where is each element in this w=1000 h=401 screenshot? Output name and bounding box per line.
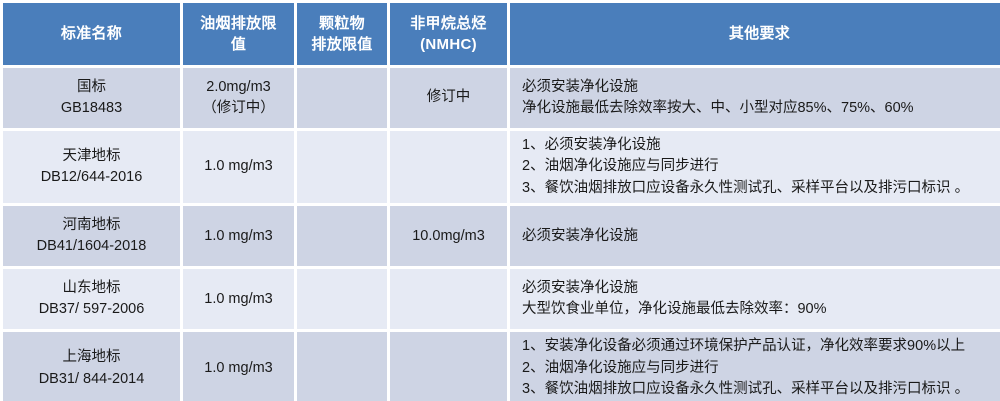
column-header-oil-fume-limit-label-line2: 值 [187,34,290,55]
other-requirement-line2: 大型饮食业单位，净化设施最低去除效率：90% [522,299,1000,320]
page-root: 标准名称 油烟排放限 值 颗粒物 排放限值 非甲烷总烃 (NMHC) 其他要求 [0,0,1000,401]
standard-name-line2: DB41/1604-2018 [9,236,174,257]
standard-name-line1: 山东地标 [9,278,174,299]
standard-name-line2: DB37/ 597-2006 [9,299,174,320]
cell-standard-name: 国标 GB18483 [3,68,180,128]
cell-oil-fume-limit: 1.0 mg/m3 [183,206,294,266]
table-row: 国标 GB18483 2.0mg/m3 （修订中） 修订中 必须安装净化设施 净… [3,68,1000,128]
cell-particulate-limit [297,269,387,329]
cell-nmhc-limit: 10.0mg/m3 [390,206,507,266]
cell-particulate-limit [297,332,387,401]
oil-fume-limit-line1: 1.0 mg/m3 [189,358,288,379]
oil-fume-limit-line1: 1.0 mg/m3 [189,289,288,310]
cell-oil-fume-limit: 2.0mg/m3 （修订中） [183,68,294,128]
cell-oil-fume-limit: 1.0 mg/m3 [183,269,294,329]
standard-name-line2: DB12/644-2016 [9,167,174,188]
standard-name-line1: 上海地标 [9,347,174,368]
cell-standard-name: 上海地标 DB31/ 844-2014 [3,332,180,401]
other-requirement-line1: 必须安装净化设施 [522,77,1000,98]
standard-name-line2: GB18483 [9,98,174,119]
standard-name-line2: DB31/ 844-2014 [9,369,174,390]
other-requirement-line2: 2、油烟净化设施应与同步进行 [522,156,1000,177]
cell-particulate-limit [297,68,387,128]
column-header-standard-name: 标准名称 [3,3,180,65]
cell-nmhc-limit [390,269,507,329]
cell-standard-name: 山东地标 DB37/ 597-2006 [3,269,180,329]
oil-fume-limit-line2: （修订中） [189,98,288,119]
table-body: 国标 GB18483 2.0mg/m3 （修订中） 修订中 必须安装净化设施 净… [3,68,1000,401]
column-header-oil-fume-limit-label-line1: 油烟排放限 [187,13,290,34]
column-header-nmhc-limit-label-line2: (NMHC) [394,34,503,55]
cell-oil-fume-limit: 1.0 mg/m3 [183,131,294,203]
cell-other-requirements: 必须安装净化设施 净化设施最低去除效率按大、中、小型对应85%、75%、60% [510,68,1000,128]
other-requirement-line2: 净化设施最低去除效率按大、中、小型对应85%、75%、60% [522,98,1000,119]
oil-fume-limit-line1: 2.0mg/m3 [189,77,288,98]
oil-fume-limit-line1: 1.0 mg/m3 [189,156,288,177]
other-requirement-line3: 3、餐饮油烟排放口应设备永久性测试孔、采样平台以及排污口标识 。 [522,379,1000,400]
other-requirement-line1: 必须安装净化设施 [522,278,1000,299]
column-header-particulate-limit: 颗粒物 排放限值 [297,3,387,65]
cell-nmhc-limit: 修订中 [390,68,507,128]
cell-other-requirements: 必须安装净化设施 大型饮食业单位，净化设施最低去除效率：90% [510,269,1000,329]
cell-particulate-limit [297,131,387,203]
other-requirement-line1: 必须安装净化设施 [522,226,1000,247]
column-header-other-requirements: 其他要求 [510,3,1000,65]
table-row: 上海地标 DB31/ 844-2014 1.0 mg/m3 1、安装净化设备必须… [3,332,1000,401]
column-header-oil-fume-limit: 油烟排放限 值 [183,3,294,65]
standard-name-line1: 河南地标 [9,215,174,236]
column-header-nmhc-limit: 非甲烷总烃 (NMHC) [390,3,507,65]
oil-fume-limit-line1: 1.0 mg/m3 [189,226,288,247]
cell-oil-fume-limit: 1.0 mg/m3 [183,332,294,401]
cell-other-requirements: 必须安装净化设施 [510,206,1000,266]
cell-other-requirements: 1、必须安装净化设施 2、油烟净化设施应与同步进行 3、餐饮油烟排放口应设备永久… [510,131,1000,203]
other-requirement-line1: 1、安装净化设备必须通过环境保护产品认证，净化效率要求90%以上 [522,336,1000,357]
other-requirement-line1: 1、必须安装净化设施 [522,135,1000,156]
column-header-other-requirements-label: 其他要求 [514,23,1000,44]
other-requirement-line2: 2、油烟净化设施应与同步进行 [522,358,1000,379]
cell-nmhc-limit [390,131,507,203]
table-row: 山东地标 DB37/ 597-2006 1.0 mg/m3 必须安装净化设施 大… [3,269,1000,329]
cell-nmhc-limit [390,332,507,401]
cell-other-requirements: 1、安装净化设备必须通过环境保护产品认证，净化效率要求90%以上 2、油烟净化设… [510,332,1000,401]
standard-name-line1: 天津地标 [9,146,174,167]
cell-particulate-limit [297,206,387,266]
table-row: 天津地标 DB12/644-2016 1.0 mg/m3 1、必须安装净化设施 … [3,131,1000,203]
emission-standards-table: 标准名称 油烟排放限 值 颗粒物 排放限值 非甲烷总烃 (NMHC) 其他要求 [0,0,1000,401]
table-header: 标准名称 油烟排放限 值 颗粒物 排放限值 非甲烷总烃 (NMHC) 其他要求 [3,3,1000,65]
table-row: 河南地标 DB41/1604-2018 1.0 mg/m3 10.0mg/m3 … [3,206,1000,266]
column-header-nmhc-limit-label-line1: 非甲烷总烃 [394,13,503,34]
table-header-row: 标准名称 油烟排放限 值 颗粒物 排放限值 非甲烷总烃 (NMHC) 其他要求 [3,3,1000,65]
other-requirement-line3: 3、餐饮油烟排放口应设备永久性测试孔、采样平台以及排污口标识 。 [522,178,1000,199]
standard-name-line1: 国标 [9,77,174,98]
column-header-particulate-limit-label-line2: 排放限值 [301,34,383,55]
column-header-particulate-limit-label-line1: 颗粒物 [301,13,383,34]
cell-standard-name: 河南地标 DB41/1604-2018 [3,206,180,266]
column-header-standard-name-label: 标准名称 [7,23,176,44]
cell-standard-name: 天津地标 DB12/644-2016 [3,131,180,203]
